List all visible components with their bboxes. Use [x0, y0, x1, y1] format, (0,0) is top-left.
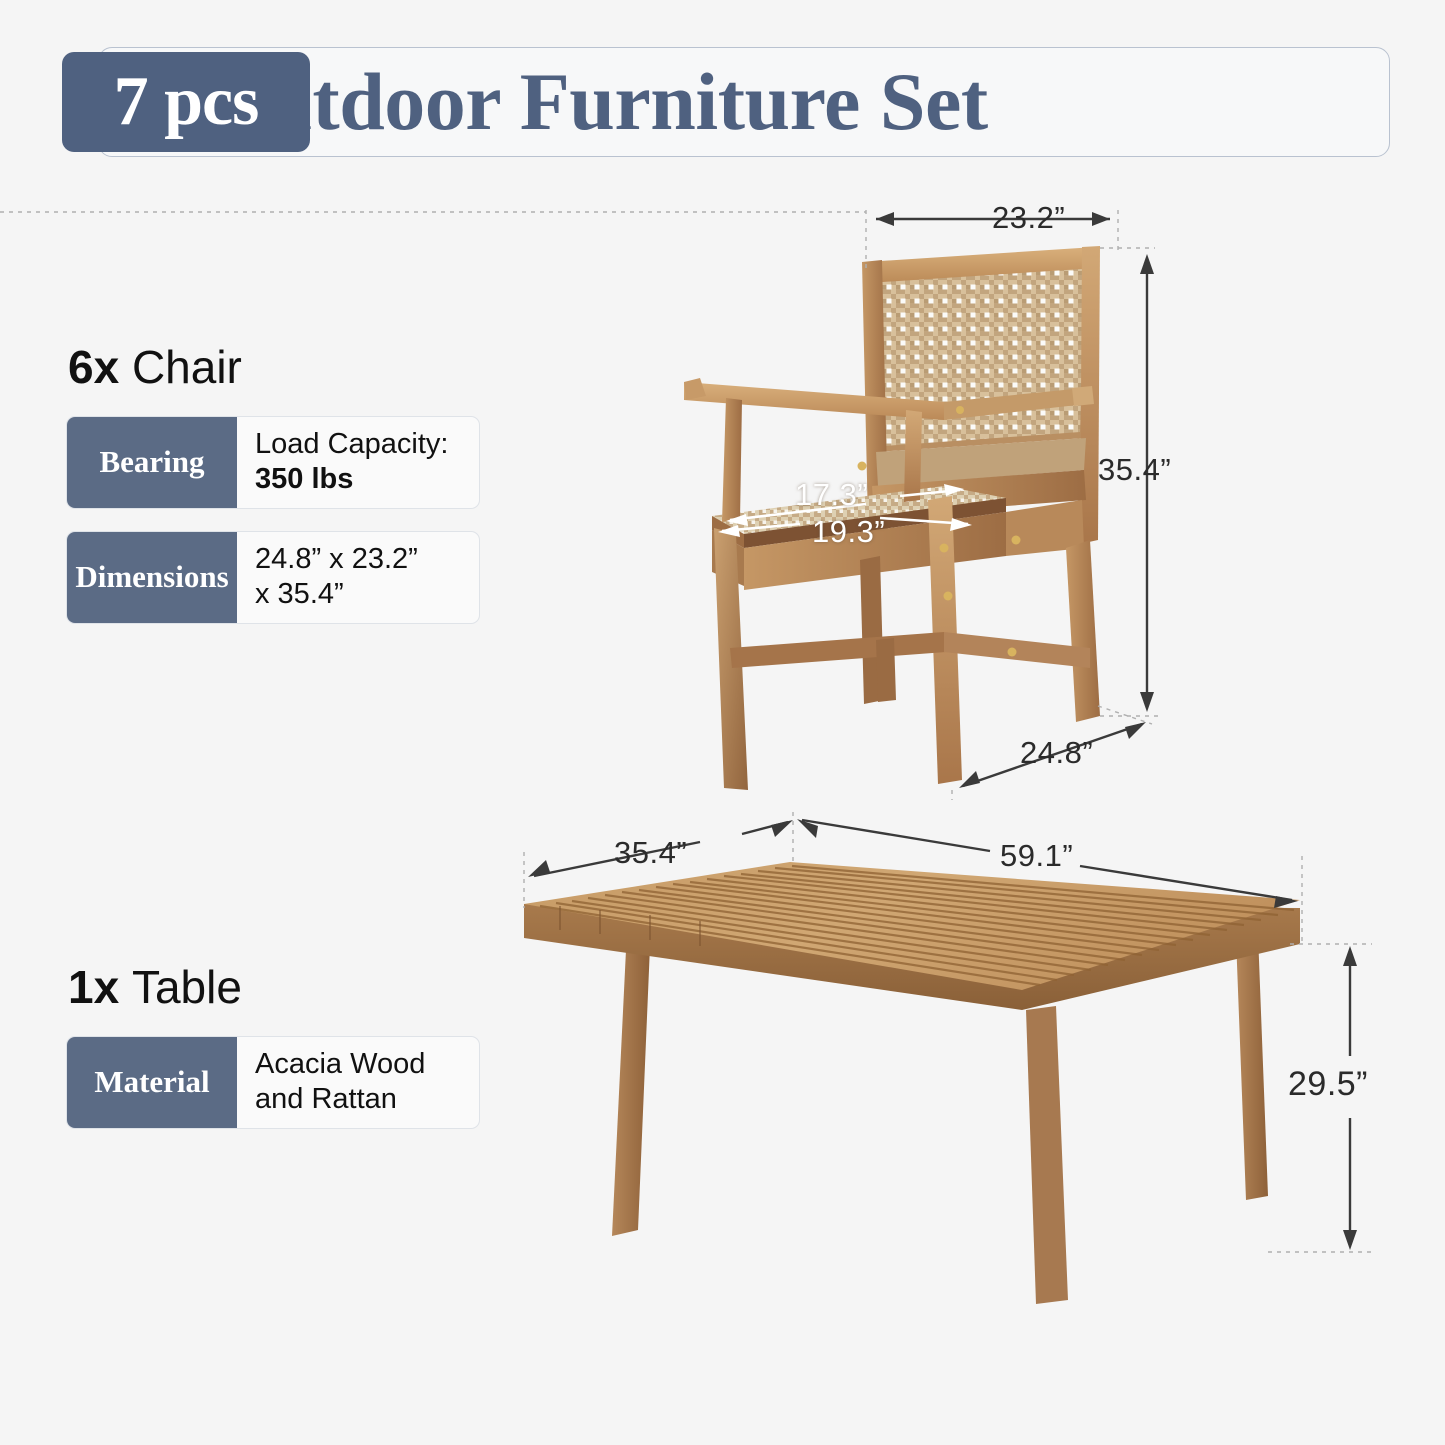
spec-value-material: Acacia Wood and Rattan — [237, 1037, 479, 1128]
header-banner: Outdoor Furniture Set 7 pcs — [62, 47, 1392, 159]
chair-seat-depth-label: 17.3” — [795, 477, 868, 513]
spec-label-dimensions: Dimensions — [67, 532, 237, 623]
chair-stretchers — [730, 632, 1090, 702]
table-illustration — [0, 0, 1445, 1445]
bearing-value-line2: 350 lbs — [255, 463, 353, 495]
spec-row-material: Material Acacia Wood and Rattan — [66, 1036, 480, 1129]
chair-illustration — [0, 0, 1445, 1445]
table-spec-panel: 1x Table Material Acacia Wood and Rattan — [66, 960, 486, 1151]
table-legs — [612, 934, 1268, 1304]
chair-right-armrest — [944, 386, 1094, 420]
pieces-count-badge: 7 pcs — [62, 52, 310, 152]
table-quantity: 1x — [68, 961, 132, 1013]
page-title: Outdoor Furniture Set — [204, 55, 988, 149]
table-depth-label: 35.4” — [614, 835, 687, 871]
table-panel-heading: 1x Table — [68, 960, 486, 1014]
material-value-line2: and Rattan — [255, 1083, 397, 1115]
chair-width-label: 23.2” — [992, 200, 1065, 236]
table-name: Table — [132, 961, 242, 1013]
table-length-label: 59.1” — [1000, 838, 1073, 874]
spec-value-bearing: Load Capacity: 350 lbs — [237, 417, 479, 508]
table-height-label: 29.5” — [1288, 1065, 1368, 1104]
material-value-line1: Acacia Wood — [255, 1048, 425, 1080]
chair-seat-apron — [712, 500, 1084, 590]
chair-panel-heading: 6x Chair — [68, 340, 486, 394]
dimensions-value-line2: x 35.4” — [255, 578, 344, 610]
spec-row-dimensions: Dimensions 24.8” x 23.2” x 35.4” — [66, 531, 480, 624]
spec-label-bearing: Bearing — [67, 417, 237, 508]
table-top — [524, 862, 1300, 1010]
spec-row-bearing: Bearing Load Capacity: 350 lbs — [66, 416, 480, 509]
chair-seat-width-label: 19.3” — [812, 514, 885, 550]
chair-quantity: 6x — [68, 341, 132, 393]
bearing-value-line1: Load Capacity: — [255, 428, 448, 460]
chair-backrest — [862, 246, 1100, 566]
table-dimension-lines — [524, 812, 1372, 1252]
spec-label-material: Material — [67, 1037, 237, 1128]
dimensions-value-line1: 24.8” x 23.2” — [255, 543, 418, 575]
spec-value-dimensions: 24.8” x 23.2” x 35.4” — [237, 532, 479, 623]
chair-depth-label: 24.8” — [1020, 735, 1093, 771]
chair-name: Chair — [132, 341, 242, 393]
chair-height-label: 35.4” — [1098, 452, 1171, 488]
chair-spec-panel: 6x Chair Bearing Load Capacity: 350 lbs … — [66, 340, 486, 646]
